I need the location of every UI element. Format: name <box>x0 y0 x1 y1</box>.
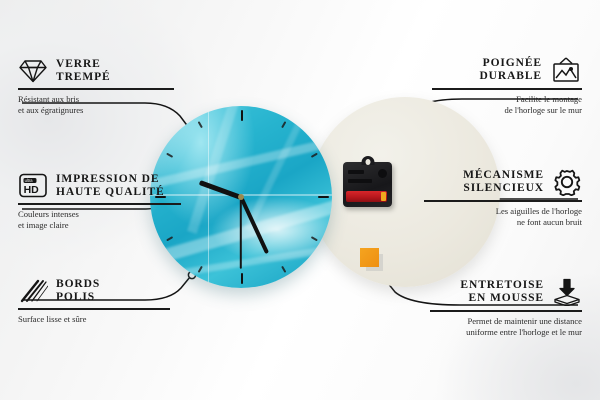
feature-title-line1: BORDS <box>56 278 100 291</box>
movement-slot <box>348 179 372 183</box>
feature-bords-polis: BORDS POLIS Surface lisse et sûre <box>18 278 170 325</box>
hour-mark <box>281 266 286 273</box>
feature-desc-line2: uniforme entre l'horloge et le mur <box>430 327 582 339</box>
feature-title-line1: MÉCANISME <box>463 169 544 182</box>
feature-desc-line1: Facilite le montage <box>432 94 582 106</box>
hour-mark <box>166 153 173 158</box>
hour-mark <box>281 121 286 128</box>
feature-title-line2: SILENCIEUX <box>463 182 544 195</box>
divider <box>18 88 174 90</box>
feature-title-line2: DURABLE <box>479 70 542 83</box>
feature-title-line2: POLIS <box>56 291 100 304</box>
product-photo <box>150 100 460 300</box>
glass-reflection <box>208 106 209 288</box>
feature-desc-line1: Les aiguilles de l'horloge <box>424 206 582 218</box>
second-hand <box>240 197 242 269</box>
feature-desc-line2: et image claire <box>18 220 181 232</box>
feature-desc-line1: Surface lisse et sûre <box>18 314 170 326</box>
svg-text:HD: HD <box>24 184 40 196</box>
quartz-movement <box>343 162 392 207</box>
center-pin <box>238 194 244 200</box>
svg-text:ultra: ultra <box>25 178 34 183</box>
foam-spacer <box>360 248 379 267</box>
hanger-lug <box>361 156 374 165</box>
hour-mark-major <box>318 196 329 198</box>
battery <box>346 191 387 202</box>
hour-mark <box>311 153 318 158</box>
diamond-icon <box>18 58 48 84</box>
hour-mark <box>311 236 318 241</box>
feature-title-line2: EN MOUSSE <box>460 292 544 305</box>
feature-title-line1: POIGNÉE <box>479 57 542 70</box>
ultra-hd-icon: ultra HD <box>18 172 48 199</box>
foam-spacer-icon <box>552 278 582 306</box>
movement-knob <box>378 169 387 178</box>
feature-desc-line2: de l'horloge sur le mur <box>432 105 582 117</box>
divider <box>430 310 582 312</box>
hour-mark <box>198 121 203 128</box>
hour-mark-major <box>241 110 243 121</box>
divider <box>18 203 181 205</box>
divider <box>424 200 582 202</box>
hour-mark-major <box>241 273 243 284</box>
divider <box>18 308 170 310</box>
feature-desc-line2: et aux égratignures <box>18 105 174 117</box>
feature-impression-haute-qualite: ultra HD IMPRESSION DE HAUTE QUALITÉ Cou… <box>18 172 181 232</box>
infographic-canvas: VERRE TREMPÉ Résistant aux bris et aux é… <box>0 0 600 400</box>
movement-slot <box>348 170 364 174</box>
hour-mark <box>166 236 173 241</box>
feature-poignee-durable: POIGNÉE DURABLE Facilite le montage de l… <box>432 56 582 117</box>
feature-entretoise-en-mousse: ENTRETOISE EN MOUSSE Permet de maintenir… <box>430 278 582 339</box>
feature-desc-line1: Couleurs intenses <box>18 209 181 221</box>
feature-title-line1: VERRE <box>56 58 111 71</box>
polished-edges-icon <box>18 278 48 304</box>
divider <box>432 88 582 90</box>
feature-desc-line2: ne font aucun bruit <box>424 217 582 229</box>
gear-icon <box>552 168 582 196</box>
feature-title-line1: IMPRESSION DE <box>56 173 165 186</box>
feature-mecanisme-silencieux: MÉCANISME SILENCIEUX Les aiguilles de l'… <box>424 168 582 229</box>
feature-verre-trempe: VERRE TREMPÉ Résistant aux bris et aux é… <box>18 58 174 117</box>
feature-title-line2: TREMPÉ <box>56 71 111 84</box>
feature-desc-line1: Résistant aux bris <box>18 94 174 106</box>
feature-desc-line1: Permet de maintenir une distance <box>430 316 582 328</box>
feature-title-line1: ENTRETOISE <box>460 279 544 292</box>
feature-title-line2: HAUTE QUALITÉ <box>56 186 165 199</box>
wall-hanger-icon <box>550 56 582 84</box>
